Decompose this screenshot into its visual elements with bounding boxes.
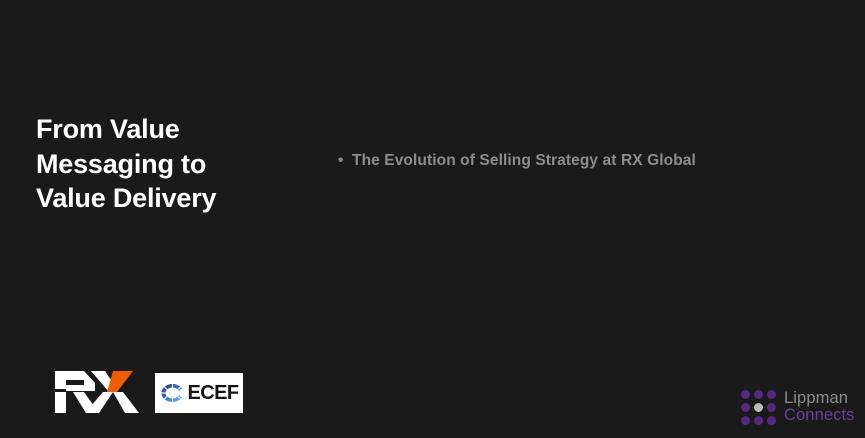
title-line-1: From Value	[36, 112, 306, 147]
lippman-wordmark-line2: Connects	[784, 407, 855, 424]
bullet-dot-icon: •	[338, 150, 344, 171]
lippman-wordmark-line1: Lippman	[784, 390, 855, 407]
ecef-logo-text: ECEF	[188, 382, 239, 405]
grid-dot	[741, 416, 750, 425]
grid-dot	[754, 390, 763, 399]
lippman-wordmark: Lippman Connects	[784, 390, 855, 424]
rx-logo	[55, 371, 139, 413]
grid-dot	[741, 403, 750, 412]
ecef-logo: ECEF	[155, 373, 243, 413]
grid-dot	[767, 416, 776, 425]
slide-title: From Value Messaging to Value Delivery	[36, 112, 306, 216]
title-line-2: Messaging to	[36, 147, 306, 182]
ecef-ring-icon	[160, 383, 185, 403]
lippman-connects-logo: Lippman Connects	[741, 387, 855, 427]
title-line-3: Value Delivery	[36, 181, 306, 216]
grid-dot-center	[754, 403, 763, 412]
grid-dot	[767, 403, 776, 412]
bullet-item-text: The Evolution of Selling Strategy at RX …	[352, 152, 696, 169]
grid-dot	[741, 390, 750, 399]
grid-dot	[754, 416, 763, 425]
presentation-slide: From Value Messaging to Value Delivery •…	[0, 0, 865, 438]
dot-grid-icon	[741, 390, 776, 425]
bullet-item: • The Evolution of Selling Strategy at R…	[336, 150, 726, 171]
grid-dot	[767, 390, 776, 399]
slide-body: • The Evolution of Selling Strategy at R…	[336, 150, 726, 171]
